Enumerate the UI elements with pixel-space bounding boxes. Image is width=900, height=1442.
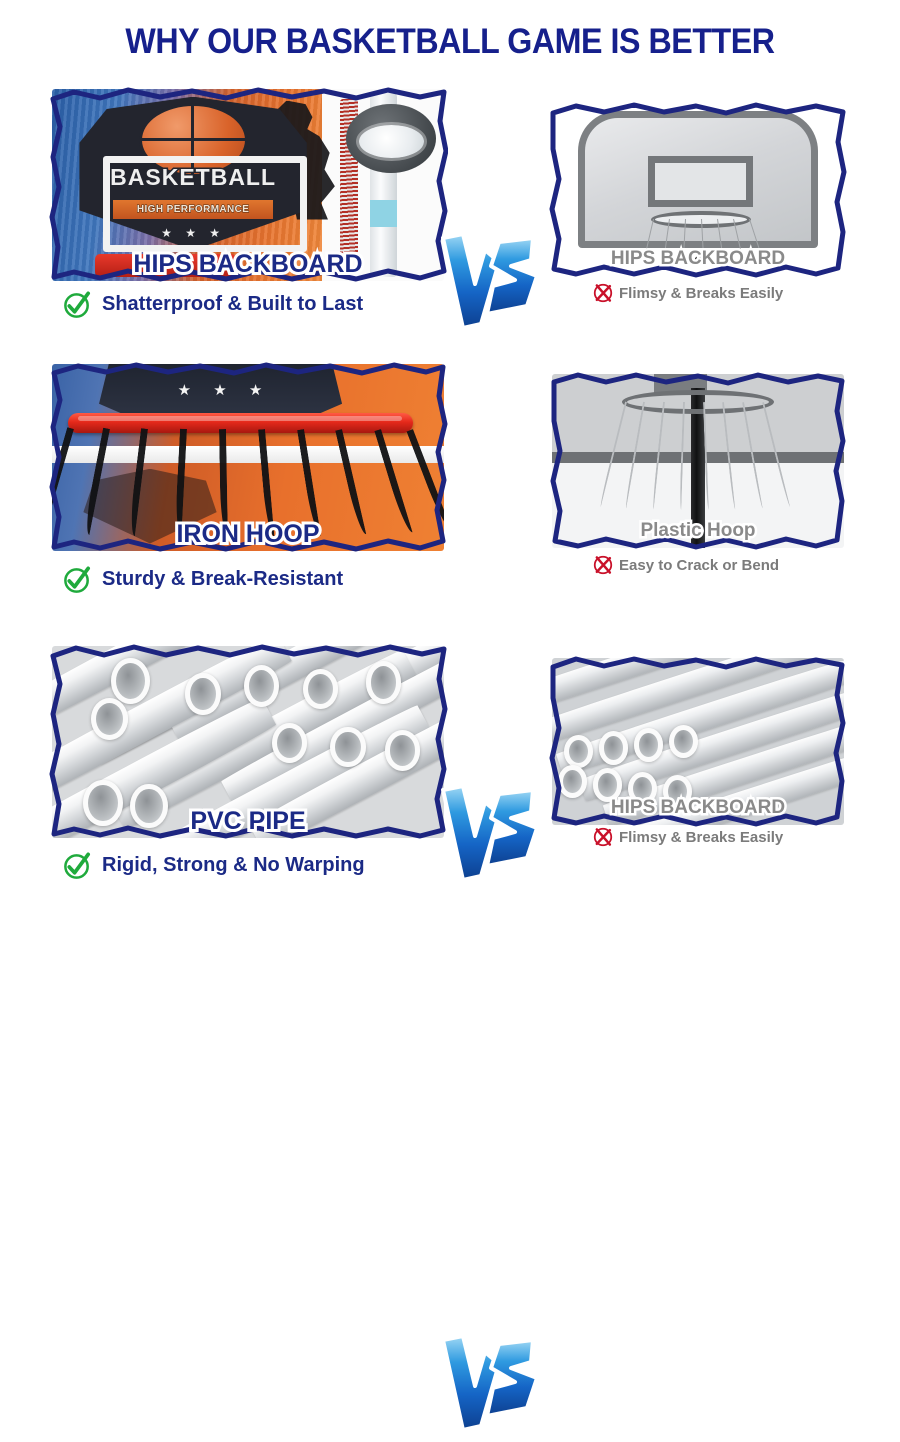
verdict-text: Shatterproof & Built to Last: [102, 293, 363, 316]
product-panel-bad-backboard: HIPS BACKBOARD: [548, 100, 848, 280]
comparison-row-backboard: BASKETBALL HIGH PERFORMANCE ★ ★ ★ HIPS B…: [0, 75, 900, 345]
verdict-text: Sturdy & Break-Resistant: [102, 568, 343, 591]
comparison-row-hoop: ★ ★ ★ IRON HOOP: [0, 352, 900, 627]
product-panel-good-backboard: BASKETBALL HIGH PERFORMANCE ★ ★ ★ HIPS B…: [48, 85, 448, 285]
vs-badge: [435, 772, 555, 892]
verdict-text: Easy to Crack or Bend: [619, 557, 779, 574]
vs-badge: [435, 220, 555, 340]
x-circle-icon: [592, 282, 614, 304]
product-panel-bad-pipe: HIPS BACKBOARD: [548, 654, 848, 829]
backboard-inner-frame: [103, 156, 307, 252]
x-circle-icon: [592, 554, 614, 576]
photo-label-bad: HIPS BACKBOARD: [548, 248, 848, 270]
verdict-good-backboard: Shatterproof & Built to Last: [62, 289, 363, 320]
photo-label-good: PVC PIPE: [48, 807, 448, 836]
verdict-bad-pipe: Flimsy & Breaks Easily: [592, 826, 783, 848]
verdict-good-pipe: Rigid, Strong & No Warping: [62, 850, 365, 881]
photo-label-good: HIPS BACKBOARD: [48, 250, 448, 279]
product-panel-good-pipe: PVC PIPE: [48, 642, 448, 842]
verdict-good-hoop: Sturdy & Break-Resistant: [62, 564, 343, 595]
plastic-hoop-net: [622, 402, 774, 510]
x-circle-icon: [592, 826, 614, 848]
verdict-text: Flimsy & Breaks Easily: [619, 829, 783, 846]
page-title: WHY OUR BASKETBALL GAME IS BETTER: [36, 22, 864, 62]
check-circle-icon: [62, 289, 93, 320]
product-panel-good-hoop: ★ ★ ★ IRON HOOP: [48, 360, 448, 555]
photo-label-bad: Plastic Hoop: [548, 520, 848, 542]
check-circle-icon: [62, 564, 93, 595]
backboard-stars: ★ ★ ★: [154, 381, 295, 399]
verdict-bad-hoop: Easy to Crack or Bend: [592, 554, 779, 576]
product-panel-bad-hoop: Plastic Hoop: [548, 370, 848, 552]
verdict-text: Flimsy & Breaks Easily: [619, 285, 783, 302]
vs-badge: [435, 1322, 555, 1442]
check-circle-icon: [62, 850, 93, 881]
pole-blue-band: [370, 200, 397, 227]
verdict-bad-backboard: Flimsy & Breaks Easily: [592, 282, 783, 304]
verdict-text: Rigid, Strong & No Warping: [102, 854, 365, 877]
gray-backboard-inner-square: [648, 156, 753, 208]
photo-label-good: IRON HOOP: [48, 520, 448, 549]
infographic-page: WHY OUR BASKETBALL GAME IS BETTER BASKET…: [0, 0, 900, 900]
photo-label-bad: HIPS BACKBOARD: [548, 797, 848, 819]
